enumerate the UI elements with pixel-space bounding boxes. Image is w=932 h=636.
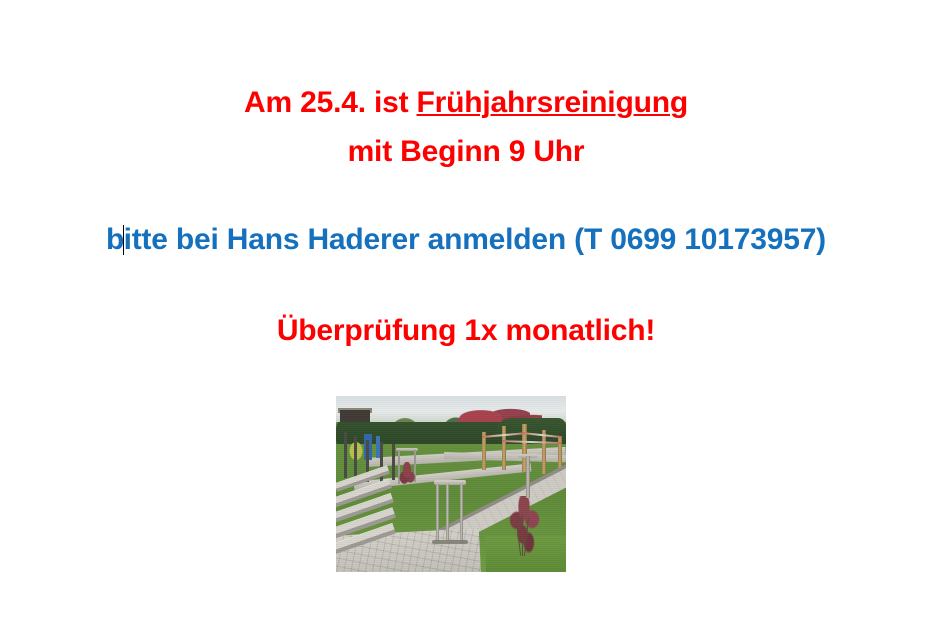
photo-foreground-post [526,456,530,498]
headline-underlined-term: Frühjahrsreinigung [417,86,688,119]
photo-climbing-frame-base [432,540,468,544]
photo-climbing-frame-leg-2 [446,484,449,540]
photo-wooden-post-2 [502,426,506,470]
photo-fence-post-2 [354,436,357,480]
inspection-frequency-line: Überprüfung 1x monatlich! [0,314,932,348]
photo-fence-post-5 [392,444,395,480]
photo-fence-post-1 [344,432,347,478]
photo-shrub-stem-1 [522,514,523,556]
photo-red-shrub-left [398,462,416,488]
photo-climbing-frame-leg-3 [460,484,463,544]
headline-prefix: Am 25.4. ist [244,86,416,119]
registration-contact-line[interactable]: bitte bei Hans Haderer anmelden (T 0699 … [0,223,932,257]
registration-line-before-caret: b [106,223,124,256]
registration-line-after-caret: itte bei Hans Haderer anmelden (T 0699 1… [124,223,826,256]
photo-climbing-frame-leg-1 [436,484,439,542]
photo-red-shrub-foreground [504,496,544,554]
start-time-line: mit Beginn 9 Uhr [0,135,932,169]
headline-spring-cleaning: Am 25.4. ist Frühjahrsreinigung [0,86,932,120]
photo-wooden-post-4 [542,430,546,474]
photo-canvas [336,396,566,572]
garten-spielplatz-foto[interactable] [336,396,566,572]
document-page: Am 25.4. ist Frühjahrsreinigung mit Begi… [0,0,932,636]
